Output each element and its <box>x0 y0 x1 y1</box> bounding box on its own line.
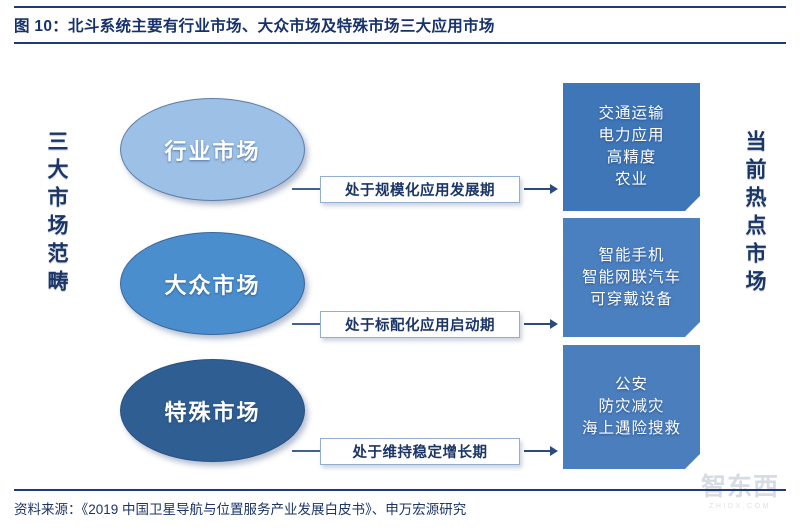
figure-title-bar: 图 10：北斗系统主要有行业市场、大众市场及特殊市场三大应用市场 <box>14 6 786 44</box>
folded-corner-icon <box>685 322 700 337</box>
detail-panel-special[interactable]: 公安 防灾减灾 海上遇险搜救 <box>563 345 700 469</box>
market-ellipse-mass[interactable]: 大众市场 <box>120 232 305 335</box>
stage-box-mass[interactable]: 处于标配化应用启动期 <box>320 311 520 338</box>
detail-panel-item: 交通运输 <box>598 103 664 125</box>
diagram-canvas: 三大市场范畴 当前热点市场 行业市场 处于规模化应用发展期 交通运输 电力应用 … <box>0 52 800 480</box>
folded-corner-icon <box>685 454 700 469</box>
detail-panel-item: 高精度 <box>607 147 657 169</box>
market-ellipse-label: 行业市场 <box>164 134 260 166</box>
detail-panel-industry[interactable]: 交通运输 电力应用 高精度 农业 <box>563 83 700 211</box>
side-caption-left: 三大市场范畴 <box>46 130 67 298</box>
market-ellipse-label: 特殊市场 <box>164 395 260 427</box>
detail-panel-item: 防灾减灾 <box>598 396 664 418</box>
detail-panel-item: 智能网联汽车 <box>582 267 681 289</box>
connector-line-row-1 <box>292 323 320 325</box>
stage-box-label: 处于维持稳定增长期 <box>353 441 488 462</box>
detail-panel-mass[interactable]: 智能手机 智能网联汽车 可穿戴设备 <box>563 218 700 337</box>
stage-box-industry[interactable]: 处于规模化应用发展期 <box>320 176 520 203</box>
connector-line-row-2 <box>292 450 320 452</box>
connector-line-row-0 <box>292 188 320 190</box>
page-title: 图 10：北斗系统主要有行业市场、大众市场及特殊市场三大应用市场 <box>14 14 495 36</box>
detail-panel-item: 电力应用 <box>598 125 664 147</box>
detail-panel-item: 智能手机 <box>598 245 664 267</box>
side-caption-right: 当前热点市场 <box>744 130 765 298</box>
figure-footer: 资料来源：《2019 中国卫星导航与位置服务产业发展白皮书》、申万宏源研究 <box>14 489 786 518</box>
stage-box-label: 处于标配化应用启动期 <box>345 314 495 335</box>
connector-arrow-row-2 <box>524 445 558 457</box>
detail-panel-item: 可穿戴设备 <box>590 289 673 311</box>
detail-panel-item: 海上遇险搜救 <box>582 418 681 440</box>
detail-panel-item: 农业 <box>615 169 648 191</box>
folded-corner-icon <box>685 196 700 211</box>
connector-arrow-row-0 <box>524 183 558 195</box>
stage-box-special[interactable]: 处于维持稳定增长期 <box>320 438 520 465</box>
market-ellipse-label: 大众市场 <box>164 268 260 300</box>
market-ellipse-special[interactable]: 特殊市场 <box>120 359 305 462</box>
market-ellipse-industry[interactable]: 行业市场 <box>120 98 305 201</box>
stage-box-label: 处于规模化应用发展期 <box>345 179 495 200</box>
connector-arrow-row-1 <box>524 318 558 330</box>
detail-panel-item: 公安 <box>615 374 648 396</box>
source-note: 资料来源：《2019 中国卫星导航与位置服务产业发展白皮书》、申万宏源研究 <box>14 498 786 518</box>
